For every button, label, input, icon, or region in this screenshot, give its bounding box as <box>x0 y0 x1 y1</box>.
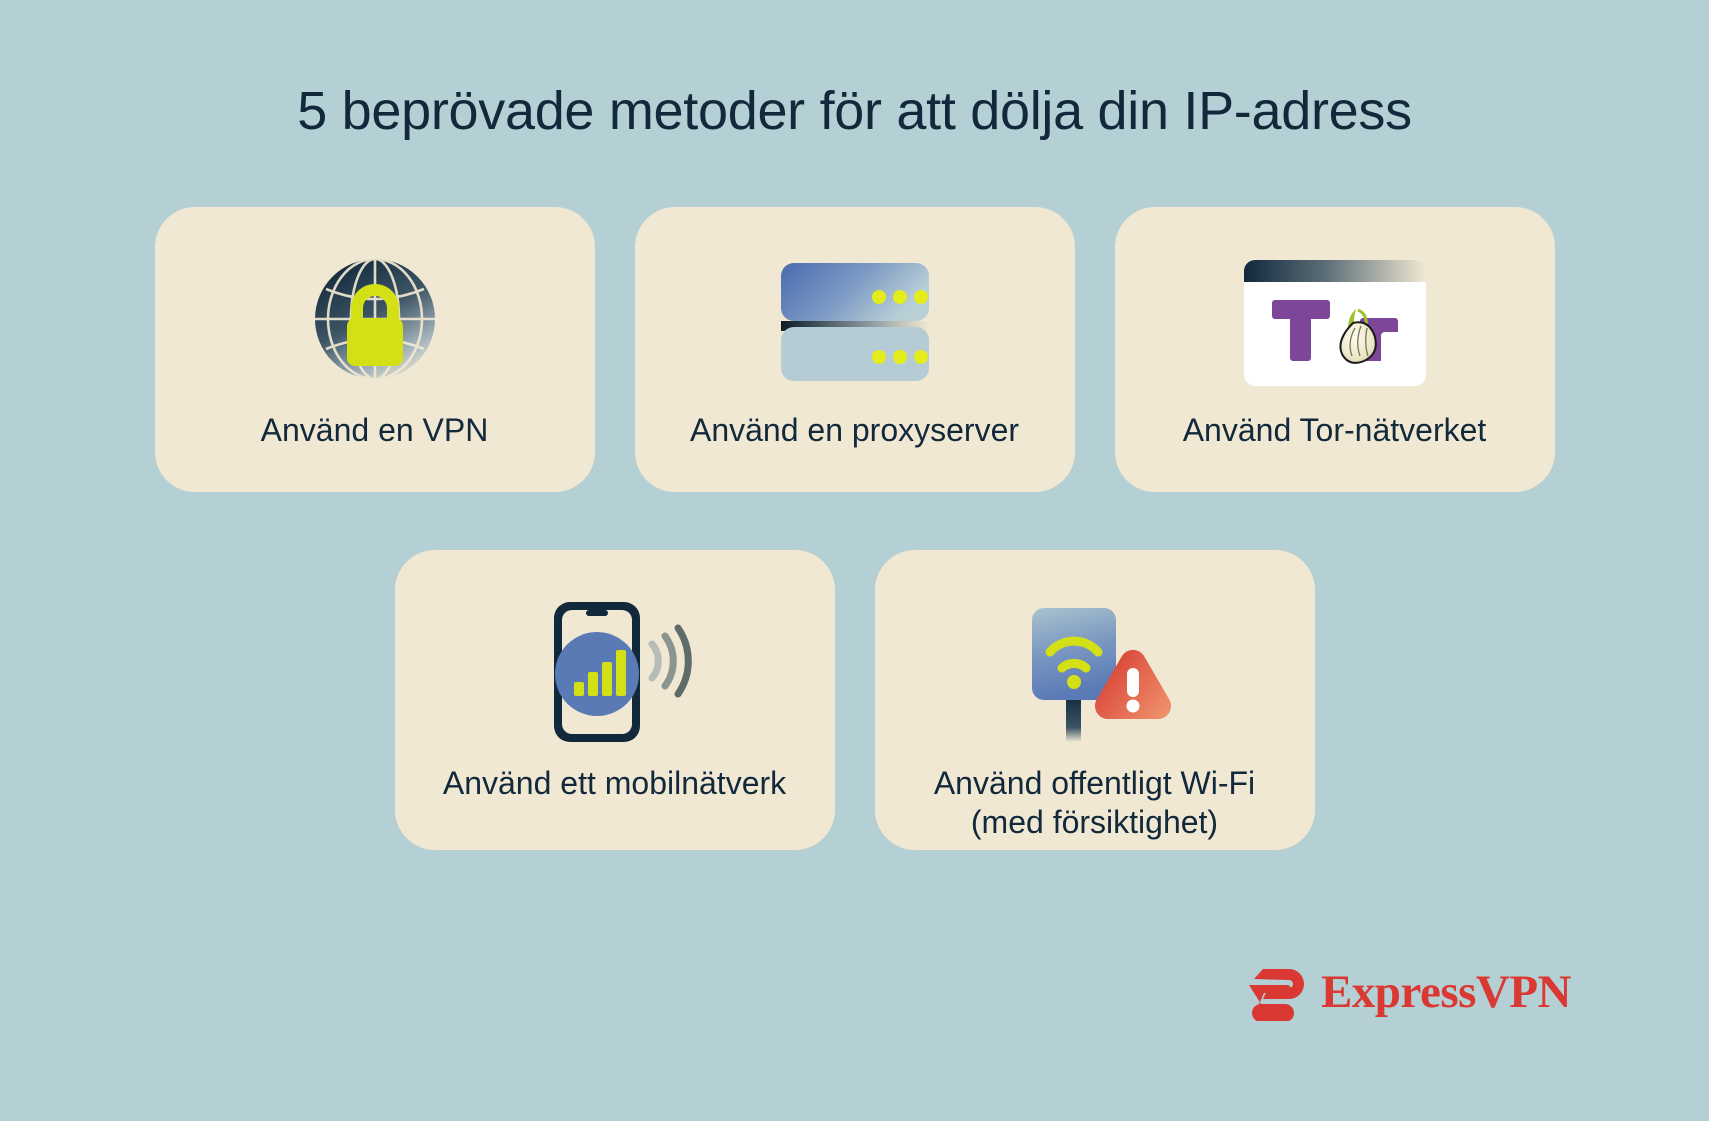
mobile-signal-icon <box>520 590 710 750</box>
expressvpn-logo[interactable]: ExpressVPN <box>1247 963 1571 1021</box>
method-card-public-wifi[interactable]: Använd offentligt Wi-Fi (med försiktighe… <box>875 550 1315 850</box>
signal-waves <box>652 628 688 694</box>
card-row-top: Använd en VPN <box>155 207 1555 492</box>
server-stack-icon <box>775 247 935 397</box>
method-card-tor[interactable]: Använd Tor-nätverket <box>1115 207 1555 492</box>
page-title: 5 beprövade metoder för att dölja din IP… <box>297 82 1412 141</box>
public-wifi-warning-icon <box>1010 590 1180 750</box>
method-card-label: Använd ett mobilnätverk <box>443 764 786 803</box>
expressvpn-e-logo <box>1247 963 1309 1021</box>
method-card-label: Använd en VPN <box>261 411 489 450</box>
method-card-vpn[interactable]: Använd en VPN <box>155 207 595 492</box>
method-card-label: Använd offentligt Wi-Fi (med försiktighe… <box>934 764 1255 842</box>
method-card-label: Använd en proxyserver <box>690 411 1019 450</box>
method-card-grid: Använd en VPN <box>155 207 1555 850</box>
expressvpn-wordmark: ExpressVPN <box>1321 965 1571 1019</box>
infographic-page: 5 beprövade metoder för att dölja din IP… <box>0 0 1709 1121</box>
method-card-mobile[interactable]: Använd ett mobilnätverk <box>395 550 835 850</box>
globe-lock-icon <box>300 247 450 397</box>
method-card-proxy[interactable]: Använd en proxyserver <box>635 207 1075 492</box>
card-row-bottom: Använd ett mobilnätverk <box>395 550 1315 850</box>
method-card-label: Använd Tor-nätverket <box>1183 411 1487 450</box>
tor-browser-icon <box>1240 247 1430 397</box>
